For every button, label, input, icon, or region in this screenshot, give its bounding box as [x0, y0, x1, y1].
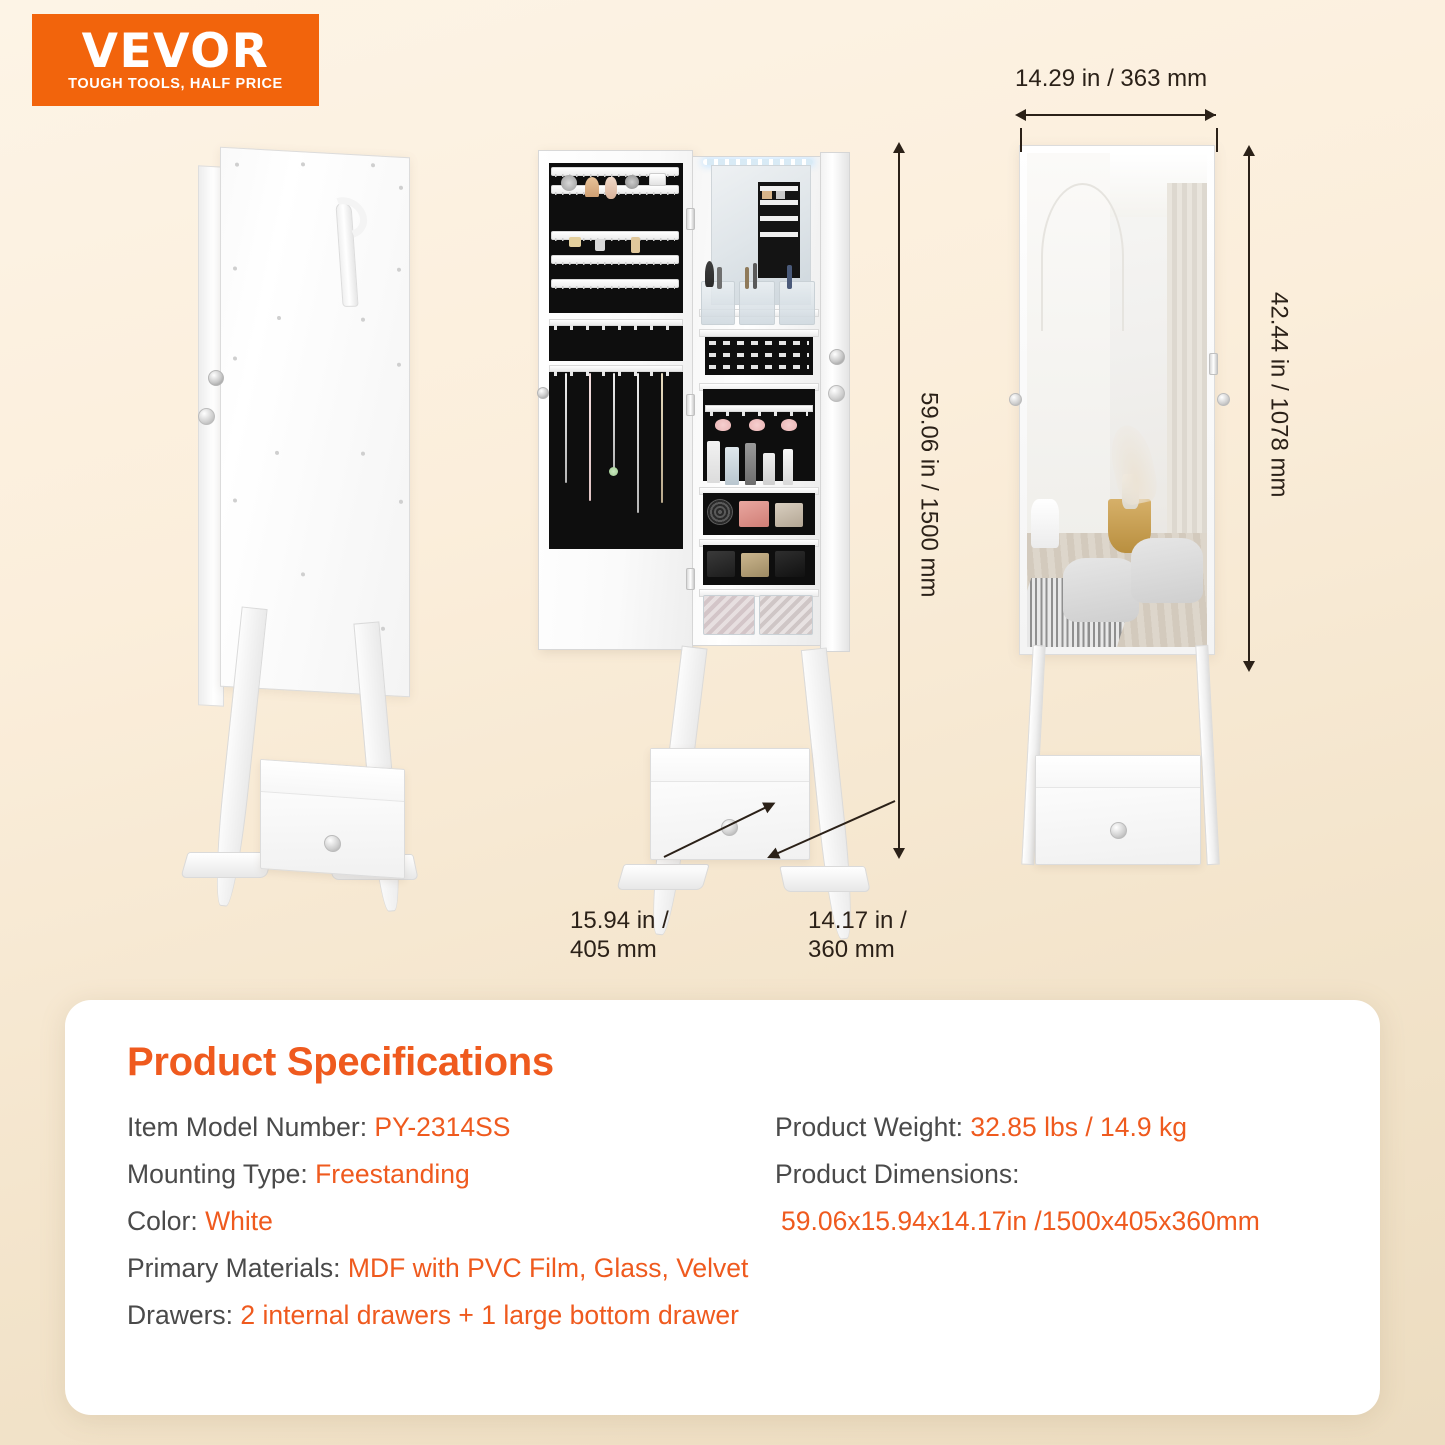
door-handle-knob[interactable]	[828, 385, 845, 402]
lounge-chair	[1063, 558, 1139, 622]
hinge	[1209, 353, 1218, 375]
cosmetic-bottle	[745, 443, 756, 485]
bottom-drawer[interactable]	[1035, 755, 1201, 865]
palette-box	[775, 503, 803, 527]
arrow-right-icon	[1205, 109, 1216, 121]
spec-label: Product Weight:	[775, 1112, 970, 1142]
spec-grid: Item Model Number: PY-2314SS Mounting Ty…	[127, 1111, 1318, 1239]
makeup-brush	[787, 265, 792, 289]
jewelry-door-panel[interactable]	[538, 150, 693, 650]
necklace	[565, 373, 567, 483]
product-view-front	[1005, 145, 1245, 865]
arrow-left-icon	[1015, 109, 1026, 121]
spec-label: Primary Materials:	[127, 1253, 348, 1283]
lounge-chair	[1131, 538, 1203, 602]
earring-rack-4	[551, 255, 679, 264]
spec-value: 59.06x15.94x14.17in /1500x405x360mm	[781, 1206, 1260, 1236]
makeup-brush	[717, 267, 722, 289]
dimension-label-depth-right: 14.17 in / 360 mm	[808, 906, 907, 965]
internal-drawer[interactable]	[759, 595, 813, 635]
hanger-hook-icon	[335, 203, 358, 307]
spec-column-right: Product Weight: 32.85 lbs / 14.9 kg Prod…	[775, 1111, 1318, 1239]
cosmetic-bottle	[725, 447, 739, 485]
door-lock[interactable]	[537, 387, 549, 399]
jewelry-item	[631, 237, 640, 253]
dimension-label-width: 14.29 in / 363 mm	[1015, 64, 1207, 93]
cosmetic-bottle	[783, 449, 793, 485]
dimension-label-height: 59.06 in / 1500 mm	[914, 392, 943, 597]
internal-drawer[interactable]	[703, 595, 755, 635]
jewelry-item	[625, 175, 639, 189]
necklace-hook-row-upper	[549, 319, 683, 326]
spec-row-color: Color: White	[127, 1205, 775, 1239]
palette-box	[741, 553, 769, 577]
spec-value: White	[205, 1206, 273, 1236]
palette-box	[739, 501, 769, 527]
page-title: Product Specifications	[127, 1040, 1318, 1085]
spec-value: PY-2314SS	[374, 1112, 510, 1142]
spec-value: 32.85 lbs / 14.9 kg	[970, 1112, 1187, 1142]
necklace	[637, 373, 639, 513]
shelf	[699, 329, 819, 337]
spec-row-mounting: Mounting Type: Freestanding	[127, 1158, 775, 1192]
arrow-down-icon	[893, 848, 905, 859]
dimension-label-mirror-height: 42.44 in / 1078 mm	[1264, 292, 1293, 497]
spec-column-left: Item Model Number: PY-2314SS Mounting Ty…	[127, 1111, 775, 1239]
pampas-grass	[1106, 421, 1161, 507]
hair-bow	[715, 419, 731, 431]
dimension-line-width	[1026, 114, 1216, 116]
cabinet-front-door-edge[interactable]	[820, 152, 850, 652]
drawer-knob[interactable]	[1110, 822, 1127, 839]
spec-row-model: Item Model Number: PY-2314SS	[127, 1111, 775, 1145]
necklace-charm	[609, 467, 618, 476]
palette-box	[775, 551, 805, 577]
necklace-hook-row-lower	[549, 365, 683, 372]
hinge	[686, 394, 695, 416]
spec-label: Product Dimensions:	[775, 1159, 1020, 1189]
mirror-glass	[1027, 153, 1207, 647]
makeup-brush	[753, 263, 757, 289]
drawer-knob[interactable]	[324, 834, 341, 852]
hair-bow	[749, 419, 765, 431]
necklace	[661, 373, 663, 503]
hair-bow	[781, 419, 797, 431]
product-view-open	[520, 148, 890, 888]
necklace	[613, 373, 615, 469]
side-knob-right[interactable]	[1217, 393, 1230, 406]
hinge	[686, 568, 695, 590]
bottom-drawer[interactable]	[650, 748, 810, 860]
cabinet-interior	[692, 156, 824, 646]
spec-label: Drawers:	[127, 1300, 240, 1330]
brush-holder-bin	[779, 281, 815, 325]
jewelry-item	[605, 177, 617, 199]
cosmetic-bottle	[763, 453, 775, 485]
dimension-line-height	[898, 152, 900, 852]
spec-row-weight: Product Weight: 32.85 lbs / 14.9 kg	[775, 1111, 1318, 1145]
accessory-hook-row	[705, 405, 813, 412]
spec-label: Color:	[127, 1206, 205, 1236]
drawer-top-surface	[651, 749, 809, 782]
mirror-frame	[1019, 145, 1215, 655]
jewelry-item	[585, 177, 599, 197]
arrow-up-icon	[893, 142, 905, 153]
earring-rack-5	[551, 279, 679, 288]
jewelry-item	[595, 239, 605, 251]
jewelry-item	[561, 175, 577, 191]
cabinet-lock	[208, 370, 224, 386]
necklace	[589, 373, 591, 501]
spec-value: MDF with PVC Film, Glass, Velvet	[348, 1253, 749, 1283]
makeup-brush	[745, 267, 749, 289]
arrow-up-icon	[1243, 145, 1255, 156]
product-view-rear	[170, 152, 440, 882]
spec-label: Item Model Number:	[127, 1112, 374, 1142]
spec-row-materials: Primary Materials: MDF with PVC Film, Gl…	[127, 1252, 1318, 1286]
jewelry-item	[569, 237, 581, 247]
spec-rows-full-width: Primary Materials: MDF with PVC Film, Gl…	[127, 1252, 1318, 1333]
bottom-drawer[interactable]	[260, 759, 405, 879]
spec-value: 2 internal drawers + 1 large bottom draw…	[240, 1300, 739, 1330]
palette-box	[707, 551, 735, 577]
arrow-down-icon	[1243, 661, 1255, 672]
product-specifications-card: Product Specifications Item Model Number…	[65, 1000, 1380, 1415]
spec-label: Mounting Type:	[127, 1159, 315, 1189]
spec-value: Freestanding	[315, 1159, 470, 1189]
cosmetic-bottle	[707, 441, 720, 483]
spec-row-dimensions-label: Product Dimensions:	[775, 1158, 1318, 1192]
dimension-line-mirror-height	[1248, 155, 1250, 665]
spec-row-drawers: Drawers: 2 internal drawers + 1 large bo…	[127, 1299, 1318, 1333]
makeup-brush	[705, 261, 714, 287]
jewelry-item	[649, 173, 666, 186]
side-knob-left[interactable]	[1009, 393, 1022, 406]
cabinet-lock[interactable]	[829, 349, 845, 365]
drawer-top-surface	[1036, 756, 1200, 788]
side-knob	[198, 408, 215, 425]
hinge	[686, 208, 695, 230]
spec-row-dimensions-value: 59.06x15.94x14.17in /1500x405x360mm	[775, 1205, 1318, 1239]
compact-mirror	[707, 499, 733, 525]
stand-foot-left	[616, 864, 709, 890]
dimension-label-depth-left: 15.94 in / 405 mm	[570, 906, 669, 965]
stand-foot-right	[779, 866, 871, 892]
